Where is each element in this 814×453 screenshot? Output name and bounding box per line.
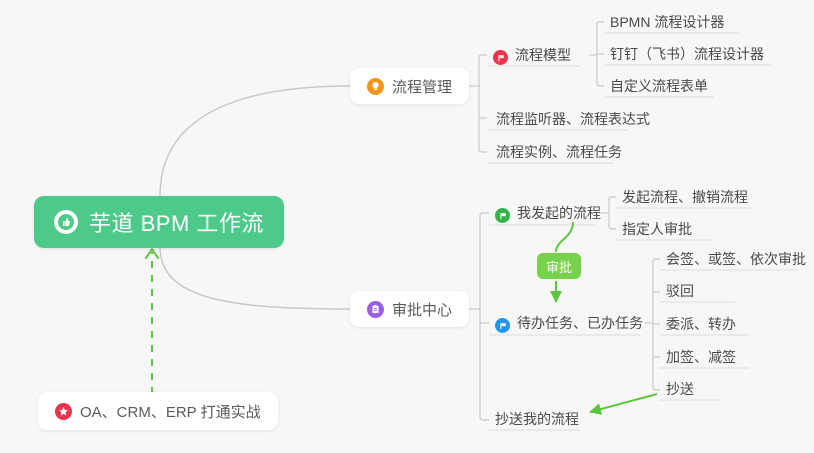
node-process-model[interactable]: 流程模型 [487,40,577,68]
label-start-cancel-process: 发起流程、撤销流程 [622,187,748,207]
wire-model-bracket [597,22,604,86]
label-carbon-copy: 抄送 [666,379,694,399]
label-add-remove-sign: 加签、减签 [666,347,736,367]
label-process-model: 流程模型 [515,45,571,65]
flag-blue-icon [495,318,510,333]
bottom-note-node[interactable]: OA、CRM、ERP 打通实战 [38,392,278,430]
wire-flow-started-to-stage [556,222,573,252]
node-my-started-processes[interactable]: 我发起的流程 [489,198,607,226]
node-assignee-approval[interactable]: 指定人审批 [616,214,698,242]
branch-node-approval-center[interactable]: 审批中心 [350,291,469,327]
label-assignee-approval: 指定人审批 [622,219,692,239]
stage-node-approval[interactable]: 审批 [537,253,581,279]
wire-started-bracket [609,197,616,229]
clipboard-icon [367,301,384,318]
node-bpmn-designer[interactable]: BPMN 流程设计器 [604,7,730,35]
wire-root-to-approval-center [160,247,350,309]
flag-red-icon [493,50,508,65]
branch-label-approval-center: 审批中心 [392,299,452,320]
wire-pm-bracket [479,55,487,152]
flag-green-icon [495,208,510,223]
root-label: 芋道 BPM 工作流 [89,206,264,238]
label-process-instance-task: 流程实例、流程任务 [496,142,622,162]
thumbs-up-icon [54,210,78,234]
node-custom-process-form[interactable]: 自定义流程表单 [604,71,714,99]
node-reject[interactable]: 驳回 [660,276,700,304]
label-cc-to-me-processes: 抄送我的流程 [495,409,579,429]
branch-label-process-management: 流程管理 [392,76,452,97]
label-countersign: 会签、或签、依次审批 [666,249,806,269]
wire-ac-bracket [480,213,489,420]
label-process-listener-expression: 流程监听器、流程表达式 [496,109,650,129]
node-countersign[interactable]: 会签、或签、依次审批 [660,244,812,272]
node-start-cancel-process[interactable]: 发起流程、撤销流程 [616,182,754,210]
label-todo-done-tasks: 待办任务、已办任务 [517,313,643,333]
wire-flow-cc-to-ccme [590,394,657,412]
bottom-note-label: OA、CRM、ERP 打通实战 [80,401,261,422]
label-dingtalk-feishu-designer: 钉钉（飞书）流程设计器 [610,44,764,64]
label-delegate-transfer: 委派、转办 [666,314,736,334]
label-reject: 驳回 [666,281,694,301]
node-dingtalk-feishu-designer[interactable]: 钉钉（飞书）流程设计器 [604,39,770,67]
branch-node-process-management[interactable]: 流程管理 [350,68,469,104]
node-carbon-copy[interactable]: 抄送 [660,374,700,402]
wire-todo-bracket [653,259,660,390]
stage-label: 审批 [546,257,572,276]
mindmap-canvas: 芋道 BPM 工作流 OA、CRM、ERP 打通实战 流程管理 流程模型 [0,0,814,453]
node-delegate-transfer[interactable]: 委派、转办 [660,309,742,337]
star-icon [55,403,72,420]
node-process-listener-expression[interactable]: 流程监听器、流程表达式 [490,104,656,132]
lightbulb-icon [367,78,384,95]
node-add-remove-sign[interactable]: 加签、减签 [660,342,742,370]
node-todo-done-tasks[interactable]: 待办任务、已办任务 [489,308,649,336]
node-cc-to-me-processes[interactable]: 抄送我的流程 [489,404,585,432]
root-node[interactable]: 芋道 BPM 工作流 [34,196,284,248]
arrowhead-note-to-root [146,249,158,258]
node-process-instance-task[interactable]: 流程实例、流程任务 [490,137,628,165]
label-custom-process-form: 自定义流程表单 [610,76,708,96]
wire-root-to-process-management [160,86,350,196]
label-my-started-processes: 我发起的流程 [517,203,601,223]
label-bpmn-designer: BPMN 流程设计器 [610,12,724,32]
